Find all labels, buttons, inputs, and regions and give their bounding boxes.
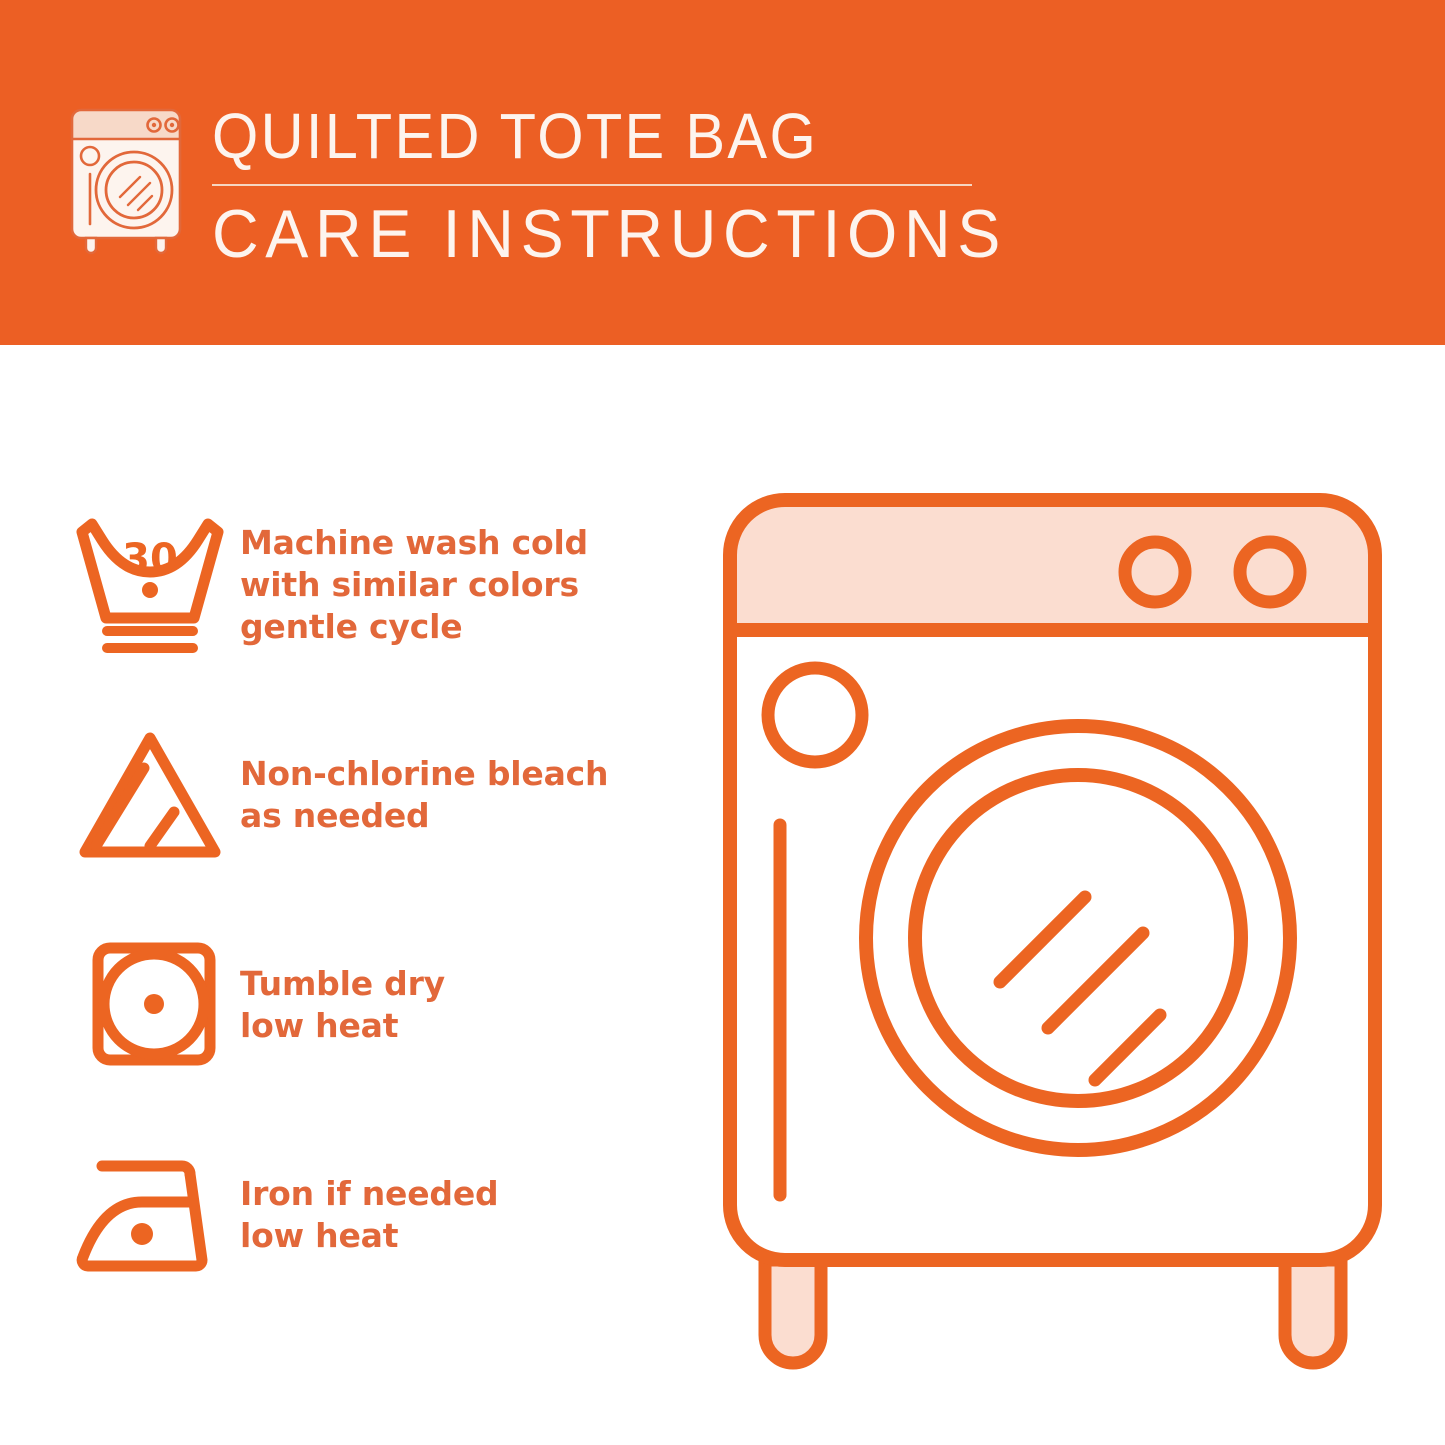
- list-item-label: Tumble dry low heat: [240, 963, 445, 1047]
- list-item: Non-chlorine bleach as needed: [60, 690, 680, 900]
- washer-leg-right: [1285, 1260, 1341, 1363]
- list-item: Iron if needed low heat: [60, 1110, 680, 1320]
- list-item: Tumble dry low heat: [60, 900, 680, 1110]
- label-line: low heat: [240, 1215, 498, 1257]
- non-chlorine-bleach-triangle-icon: [60, 715, 240, 875]
- list-item-label: Iron if needed low heat: [240, 1173, 498, 1257]
- label-line: Machine wash cold: [240, 522, 588, 564]
- label-line: low heat: [240, 1005, 445, 1047]
- care-instructions-page: QUILTED TOTE BAG CARE INSTRUCTIONS 30: [0, 0, 1445, 1445]
- svg-text:30: 30: [122, 536, 178, 582]
- label-line: Tumble dry: [240, 963, 445, 1005]
- washer-leg-left: [765, 1260, 821, 1363]
- header-band: QUILTED TOTE BAG CARE INSTRUCTIONS: [0, 0, 1445, 345]
- label-line: Non-chlorine bleach: [240, 753, 608, 795]
- header-text-block: QUILTED TOTE BAG CARE INSTRUCTIONS: [212, 100, 1002, 272]
- tumble-dry-low-icon: [60, 925, 240, 1085]
- list-item-label: Machine wash cold with similar colors ge…: [240, 522, 588, 648]
- label-line: gentle cycle: [240, 606, 588, 648]
- wash-tub-30-gentle-icon: 30: [60, 505, 240, 665]
- front-load-washing-machine-illustration: [700, 470, 1400, 1380]
- label-line: with similar colors: [240, 564, 588, 606]
- list-item-label: Non-chlorine bleach as needed: [240, 753, 608, 837]
- label-line: as needed: [240, 795, 608, 837]
- instruction-list: 30 Machine wash cold with similar colors…: [60, 480, 680, 1320]
- label-line: Iron if needed: [240, 1173, 498, 1215]
- title-divider: [212, 184, 972, 186]
- page-subtitle: CARE INSTRUCTIONS: [212, 196, 963, 272]
- washing-machine-icon: [62, 98, 190, 256]
- iron-low-heat-icon: [60, 1135, 240, 1295]
- list-item: 30 Machine wash cold with similar colors…: [60, 480, 680, 690]
- page-title: QUILTED TOTE BAG: [212, 100, 947, 172]
